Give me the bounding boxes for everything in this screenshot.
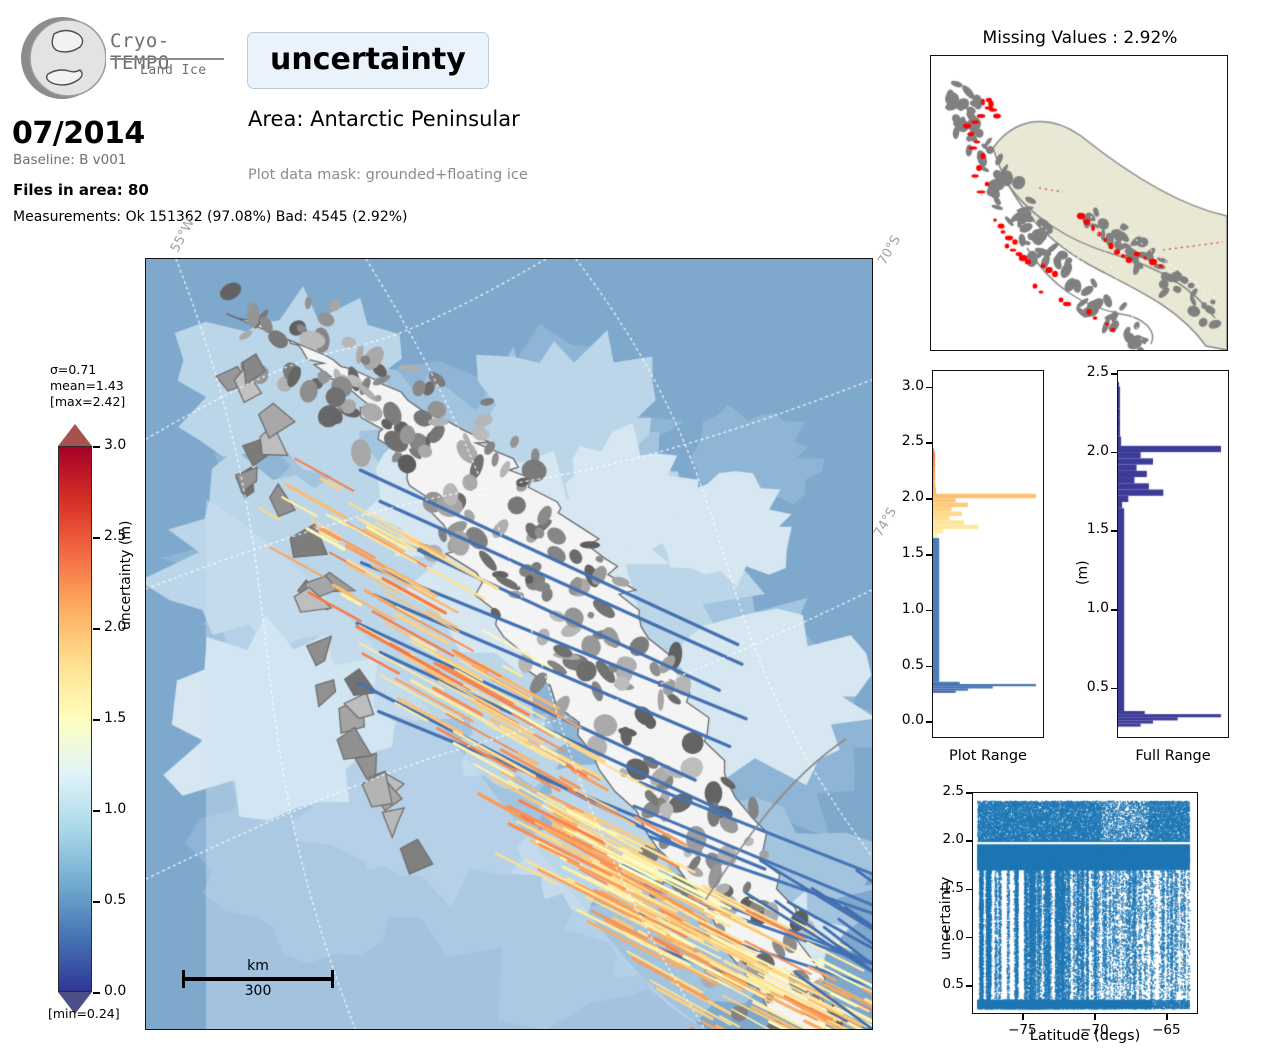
hist-tick-label: 0.0 [882,712,924,728]
map-scalebar: km 300 [182,958,334,999]
map-raster [146,259,873,1030]
hist-tick [1111,688,1117,690]
logo-subtitle: Land Ice [140,63,207,78]
scatter-y-tick [966,840,972,842]
hist-tick [926,610,932,612]
scatter-x-tick [1094,1014,1096,1020]
colorbar-tick-label: 0.0 [104,983,126,999]
hist-tick [1111,609,1117,611]
missing-values-raster [931,56,1227,350]
globe-icon [18,14,106,102]
hist-tick-label: 1.5 [882,545,924,561]
full-range-bars [1118,371,1227,736]
scalebar-line [182,977,334,981]
full-range-histogram [1117,370,1229,738]
colorbar-tick-label: 0.5 [104,892,126,908]
scatter-y-tick [966,985,972,987]
plot-range-histogram [932,370,1044,738]
plot-range-bars [933,371,1042,736]
scatter-y-tick [966,937,972,939]
colorbar: 3.02.52.01.51.00.50.0 [58,424,92,1014]
hist-tick [926,442,932,444]
colorbar-tick [93,901,100,903]
latitude-scatter-plot [972,792,1198,1014]
colorbar-tick-label: 1.0 [104,801,126,817]
colorbar-tick [93,628,100,630]
scatter-xlabel: Latitude (degs) [972,1028,1198,1044]
colorbar-tick-label: 1.5 [104,710,126,726]
missing-values-map[interactable] [930,55,1228,351]
scalebar-value: 300 [182,983,334,999]
full-range-ylabel: (m) [1075,560,1091,585]
area-label: Area: Antarctic Peninsular [248,107,520,131]
files-count-label: Files in area: 80 [13,181,149,199]
scatter-y-tick-label: 0.5 [928,976,964,992]
cryo-tempo-logo: Cryo-TEMPO Land Ice [14,12,229,104]
colorbar-tick [93,992,100,994]
hist-tick-label: 2.5 [882,433,924,449]
hist-tick-label: 0.5 [882,657,924,673]
hist-tick [1111,452,1117,454]
scatter-x-tick [1022,1014,1024,1020]
colorbar-min-label: [min=0.24] [48,1006,120,1021]
missing-values-title: Missing Values : 2.92% [930,28,1230,48]
hist-tick-label: 2.0 [882,489,924,505]
hist-tick-label: 2.5 [1067,364,1109,380]
scatter-points [973,793,1196,1012]
plot-range-caption: Plot Range [912,748,1064,764]
colorbar-over-arrow [58,424,92,446]
colorbar-gradient [58,446,92,992]
hist-tick-label: 1.0 [882,601,924,617]
scatter-y-tick-label: 2.0 [928,831,964,847]
scatter-y-tick [966,792,972,794]
main-map[interactable]: km 300 [145,258,873,1030]
parameter-badge: uncertainty [247,32,489,89]
scatter-y-tick-label: 2.5 [928,783,964,799]
hist-tick-label: 1.0 [1067,600,1109,616]
full-range-caption: Full Range [1097,748,1249,764]
hist-tick [1111,530,1117,532]
hist-tick [926,387,932,389]
graticule-label-74s: 74°S [871,505,900,540]
date-label: 07/2014 [12,116,145,151]
plot-mask-label: Plot data mask: grounded+floating ice [248,167,528,183]
baseline-label: Baseline: B v001 [13,152,126,168]
hist-tick [926,721,932,723]
hist-tick [926,666,932,668]
measurements-label: Measurements: Ok 151362 (97.08%) Bad: 45… [13,209,408,225]
hist-tick-label: 0.5 [1067,679,1109,695]
scalebar-unit: km [182,958,334,974]
graticule-label-70s: 70°S [875,233,904,268]
scatter-ylabel: uncertainty [938,877,954,960]
hist-tick-label: 1.5 [1067,521,1109,537]
colorbar-tick [93,537,100,539]
hist-tick [926,554,932,556]
scatter-x-tick [1166,1014,1168,1020]
logo-divider [110,58,224,60]
hist-tick [1111,373,1117,375]
hist-tick-label: 2.0 [1067,443,1109,459]
colorbar-tick-label: 3.0 [104,437,126,453]
hist-tick [926,498,932,500]
colorbar-tick [93,446,100,448]
scatter-y-tick [966,889,972,891]
colorbar-stats: σ=0.71 mean=1.43 [max=2.42] [50,362,125,410]
colorbar-tick [93,719,100,721]
colorbar-tick [93,810,100,812]
hist-tick-label: 3.0 [882,378,924,394]
colorbar-axis-label: uncertainty (m) [118,521,134,630]
